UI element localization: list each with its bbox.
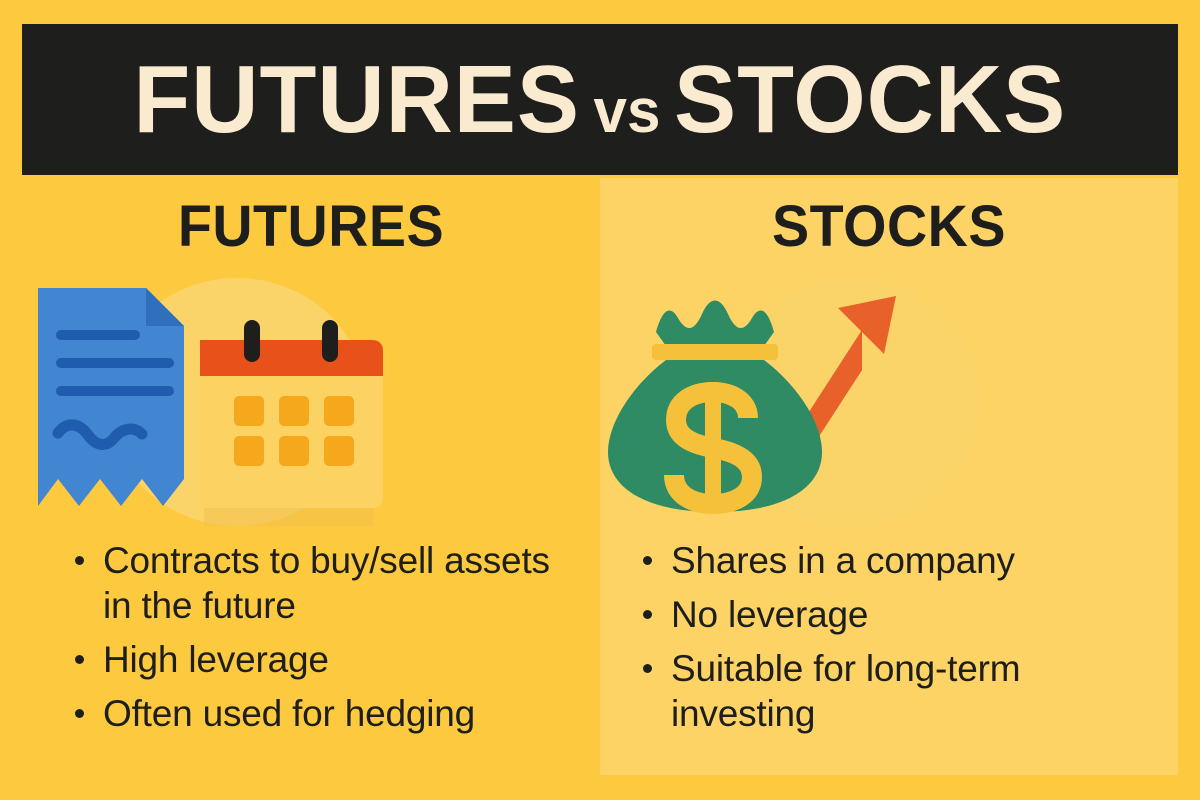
futures-heading: FUTURES bbox=[34, 198, 589, 256]
list-item-text: Often used for hedging bbox=[103, 693, 475, 734]
bullet-dot-icon bbox=[75, 655, 84, 664]
money-bag-with-growth-arrow-icon bbox=[600, 274, 1178, 526]
list-item-text: Contracts to buy/sell assets in the futu… bbox=[103, 540, 550, 626]
list-item: High leverage bbox=[67, 637, 577, 682]
list-item: No leverage bbox=[635, 592, 1135, 637]
column-futures: FUTURES bbox=[22, 178, 600, 778]
bullet-dot-icon bbox=[75, 556, 84, 565]
document-line bbox=[56, 386, 174, 396]
calendar-day-cell bbox=[234, 396, 264, 426]
calendar-day-cell bbox=[279, 396, 309, 426]
bullet-dot-icon bbox=[75, 709, 84, 718]
bullet-dot-icon bbox=[643, 556, 652, 565]
stocks-bullet-list: Shares in a company No leverage Suitable… bbox=[635, 538, 1135, 746]
stocks-heading: STOCKS bbox=[612, 198, 1167, 256]
calendar-header-lower bbox=[200, 364, 383, 376]
title-futures-word: FUTURES bbox=[134, 52, 581, 148]
bullet-dot-icon bbox=[643, 664, 652, 673]
list-item: Often used for hedging bbox=[67, 691, 577, 736]
calendar-ring-left bbox=[244, 320, 260, 362]
list-item-text: No leverage bbox=[671, 594, 868, 635]
calendar-day-cell bbox=[279, 436, 309, 466]
futures-icon-area bbox=[22, 274, 600, 526]
stocks-icon-area bbox=[600, 274, 1178, 526]
document-line bbox=[56, 330, 140, 340]
list-item: Shares in a company bbox=[635, 538, 1135, 583]
title-banner: FUTURES vs STOCKS bbox=[22, 24, 1178, 175]
bullet-dot-icon bbox=[643, 610, 652, 619]
calendar-day-cell bbox=[234, 436, 264, 466]
list-item-text: High leverage bbox=[103, 639, 329, 680]
list-item-text: Suitable for long-term investing bbox=[671, 648, 1020, 734]
infographic-canvas: FUTURES vs STOCKS FUTURES bbox=[0, 0, 1200, 800]
column-stocks: STOCKS bbox=[600, 178, 1178, 778]
futures-bullet-list: Contracts to buy/sell assets in the futu… bbox=[67, 538, 577, 746]
calendar-icon bbox=[200, 320, 383, 526]
contract-document-with-calendar-icon bbox=[22, 274, 600, 526]
calendar-ring-right bbox=[322, 320, 338, 362]
title-stocks-word: STOCKS bbox=[674, 52, 1066, 148]
calendar-day-cell bbox=[324, 436, 354, 466]
contract-document-icon bbox=[38, 288, 198, 506]
calendar-day-cell bbox=[324, 396, 354, 426]
list-item: Suitable for long-term investing bbox=[635, 646, 1135, 736]
list-item-text: Shares in a company bbox=[671, 540, 1015, 581]
list-item: Contracts to buy/sell assets in the futu… bbox=[67, 538, 577, 628]
page-title: FUTURES vs STOCKS bbox=[134, 52, 1067, 148]
title-vs-word: vs bbox=[594, 81, 661, 143]
document-line bbox=[56, 358, 174, 368]
money-bag-tie-band bbox=[652, 344, 778, 360]
money-bag-crown-top bbox=[656, 301, 774, 347]
